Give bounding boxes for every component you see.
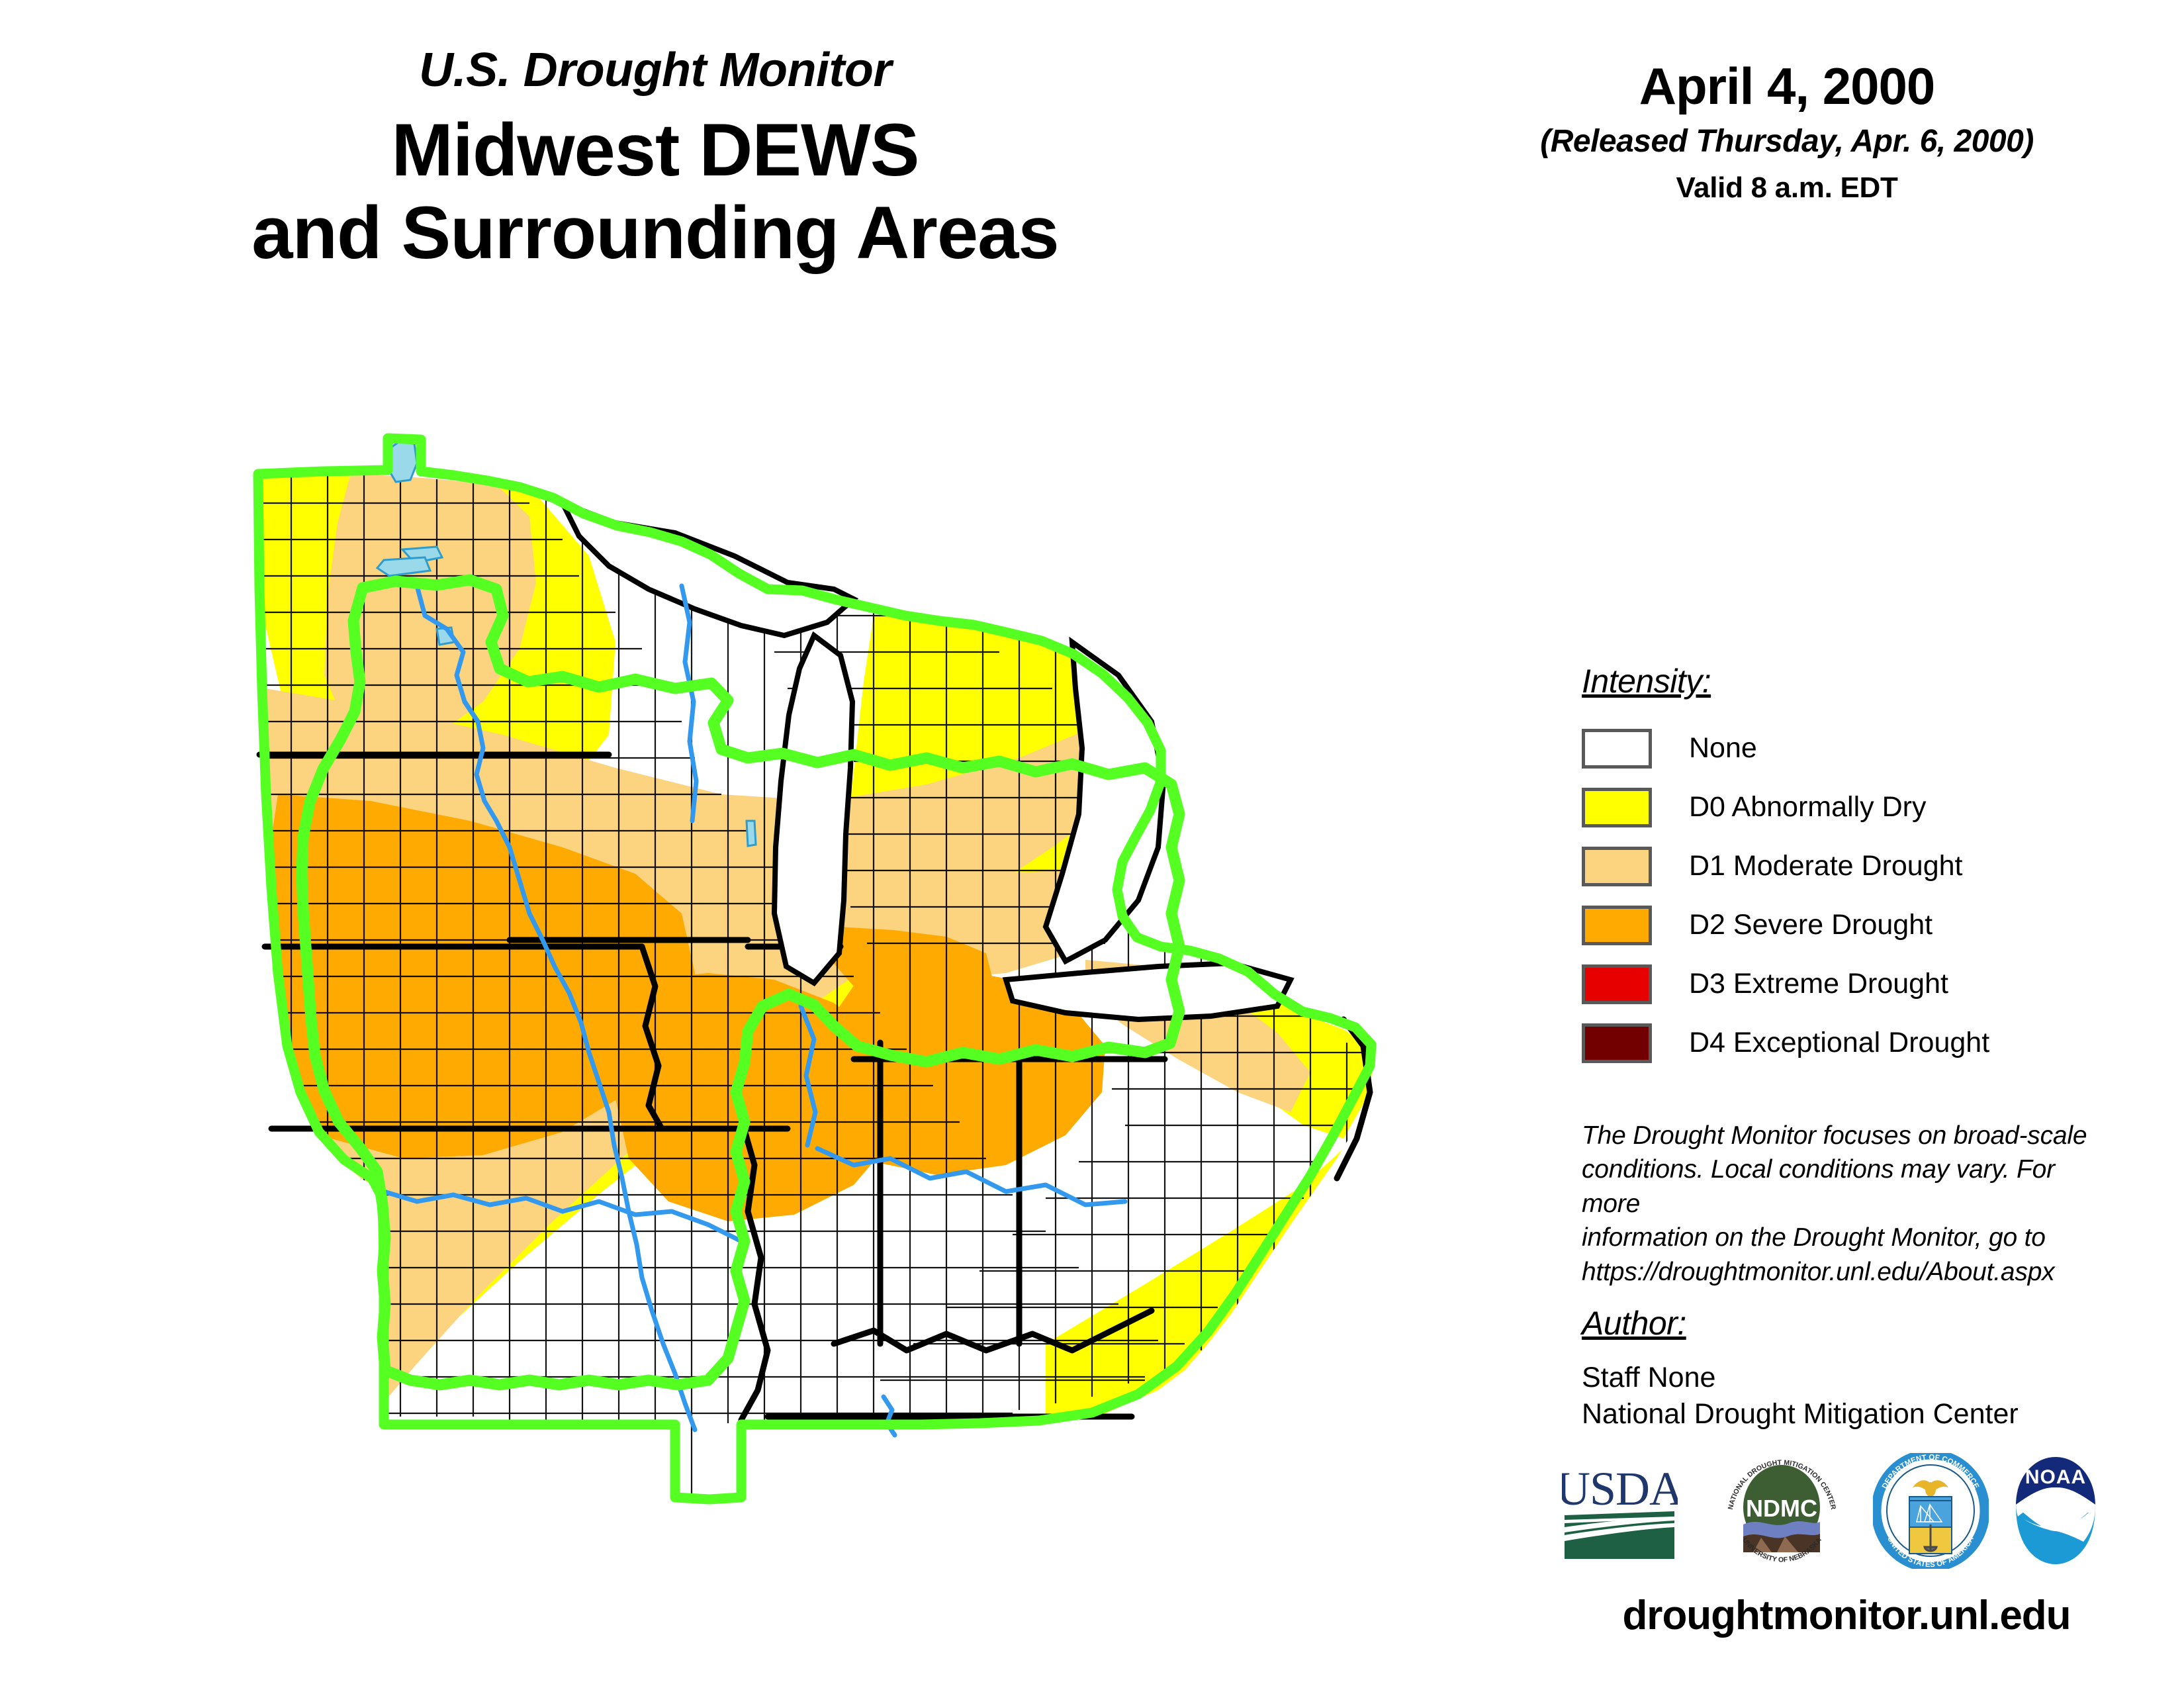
disclaimer-line-3: information on the Drought Monitor, go t… bbox=[1582, 1221, 2118, 1254]
author-block: Author: Staff None National Drought Miti… bbox=[1582, 1304, 2118, 1432]
page-title-line-2: and Surrounding Areas bbox=[119, 191, 1191, 274]
valid-time: Valid 8 a.m. EDT bbox=[1509, 171, 2065, 205]
legend-swatch-none bbox=[1582, 729, 1652, 769]
legend-label-none: None bbox=[1689, 732, 1757, 765]
svg-text:USDA: USDA bbox=[1562, 1462, 1678, 1515]
lake-winnebago bbox=[747, 821, 756, 846]
author-heading: Author: bbox=[1582, 1304, 2118, 1342]
legend-swatch-d0 bbox=[1582, 788, 1652, 827]
disclaimer-line-2: conditions. Local conditions may vary. F… bbox=[1582, 1152, 2118, 1221]
page-title: Midwest DEWS and Surrounding Areas bbox=[119, 109, 1191, 275]
legend-item-none[interactable]: None bbox=[1582, 719, 2111, 778]
disclaimer-line-1: The Drought Monitor focuses on broad-sca… bbox=[1582, 1119, 2118, 1152]
disclaimer-text: The Drought Monitor focuses on broad-sca… bbox=[1582, 1119, 2118, 1289]
legend-swatch-d1 bbox=[1582, 847, 1652, 886]
drought-map-svg[interactable] bbox=[218, 424, 1423, 1609]
release-date: (Released Thursday, Apr. 6, 2000) bbox=[1509, 123, 2065, 160]
legend-label-d3: D3 Extreme Drought bbox=[1689, 968, 1948, 1000]
intensity-legend: Intensity: None D0 Abnormally Dry D1 Mod… bbox=[1582, 662, 2111, 1072]
usda-logo: USDA bbox=[1562, 1453, 1678, 1566]
drought-map[interactable] bbox=[218, 424, 1423, 1609]
ndmc-logo: NDMC NATIONAL DROUGHT MITIGATION CENTER … bbox=[1724, 1453, 1840, 1569]
author-affiliation: National Drought Mitigation Center bbox=[1582, 1396, 2118, 1432]
legend-item-d2[interactable]: D2 Severe Drought bbox=[1582, 896, 2111, 955]
legend-swatch-d2 bbox=[1582, 906, 1652, 945]
date-block: April 4, 2000 (Released Thursday, Apr. 6… bbox=[1509, 60, 2065, 205]
legend-swatch-d4 bbox=[1582, 1023, 1652, 1063]
legend-item-d4[interactable]: D4 Exceptional Drought bbox=[1582, 1013, 2111, 1072]
title-block: U.S. Drought Monitor Midwest DEWS and Su… bbox=[119, 46, 1191, 275]
legend-label-d0: D0 Abnormally Dry bbox=[1689, 791, 1926, 823]
legend-label-d2: D2 Severe Drought bbox=[1689, 909, 1933, 941]
legend-label-d1: D1 Moderate Drought bbox=[1689, 850, 1963, 882]
noaa-logo: NOAA bbox=[1999, 1453, 2113, 1567]
site-url[interactable]: droughtmonitor.unl.edu bbox=[1582, 1592, 2111, 1639]
author-name: Staff None bbox=[1582, 1360, 2118, 1396]
doc-seal: DEPARTMENT OF COMMERCE UNITED STATES OF … bbox=[1873, 1453, 1989, 1569]
disclaimer-about-link[interactable]: https://droughtmonitor.unl.edu/About.asp… bbox=[1582, 1255, 2118, 1289]
legend-label-d4: D4 Exceptional Drought bbox=[1689, 1027, 1989, 1059]
legend-item-d1[interactable]: D1 Moderate Drought bbox=[1582, 837, 2111, 896]
legend-item-d3[interactable]: D3 Extreme Drought bbox=[1582, 955, 2111, 1013]
page-title-line-1: Midwest DEWS bbox=[119, 109, 1191, 191]
drought-monitor-kicker: U.S. Drought Monitor bbox=[119, 46, 1191, 94]
agency-logos: USDA NDMC NATIONAL DROUGHT MITIGATION CE… bbox=[1562, 1453, 2091, 1569]
valid-date: April 4, 2000 bbox=[1509, 60, 2065, 114]
legend-title: Intensity: bbox=[1582, 662, 2111, 700]
legend-swatch-d3 bbox=[1582, 964, 1652, 1004]
svg-text:NDMC: NDMC bbox=[1746, 1495, 1817, 1522]
legend-item-d0[interactable]: D0 Abnormally Dry bbox=[1582, 778, 2111, 837]
svg-text:NOAA: NOAA bbox=[2025, 1466, 2086, 1488]
